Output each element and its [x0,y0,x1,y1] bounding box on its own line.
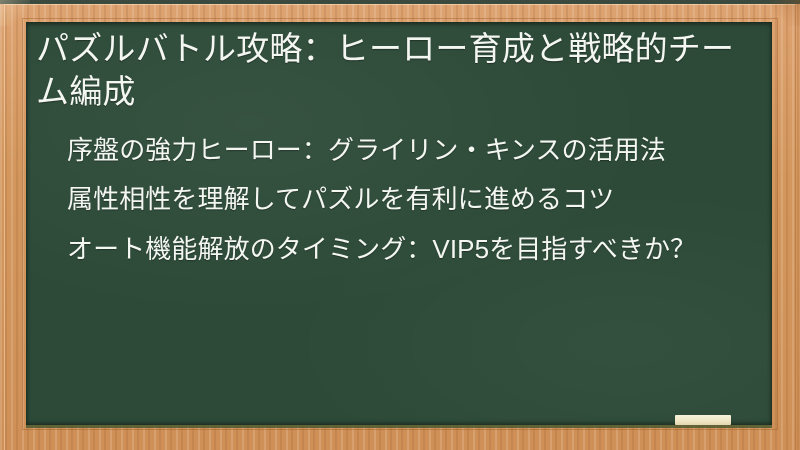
page-title: パズルバトル攻略：ヒーロー育成と戦略的チーム編成 [36,28,758,114]
list-item: 序盤の強力ヒーロー：グライリン・キンスの活用法 [67,132,758,169]
frame-top-shadow [0,0,800,4]
chalkboard-ledge [26,425,772,428]
topic-list: 序盤の強力ヒーロー：グライリン・キンスの活用法 属性相性を理解してパズルを有利に… [36,132,758,268]
chalkboard-slide: パズルバトル攻略：ヒーロー育成と戦略的チーム編成 序盤の強力ヒーロー：グライリン… [0,0,800,450]
chalkboard-surface: パズルバトル攻略：ヒーロー育成と戦略的チーム編成 序盤の強力ヒーロー：グライリン… [26,22,772,425]
chalk-stick-icon [675,415,731,425]
chalkboard-content: パズルバトル攻略：ヒーロー育成と戦略的チーム編成 序盤の強力ヒーロー：グライリン… [26,22,772,425]
list-item: オート機能解放のタイミング：VIP5を目指すべきか？ [67,231,758,268]
list-item: 属性相性を理解してパズルを有利に進めるコツ [67,181,758,218]
